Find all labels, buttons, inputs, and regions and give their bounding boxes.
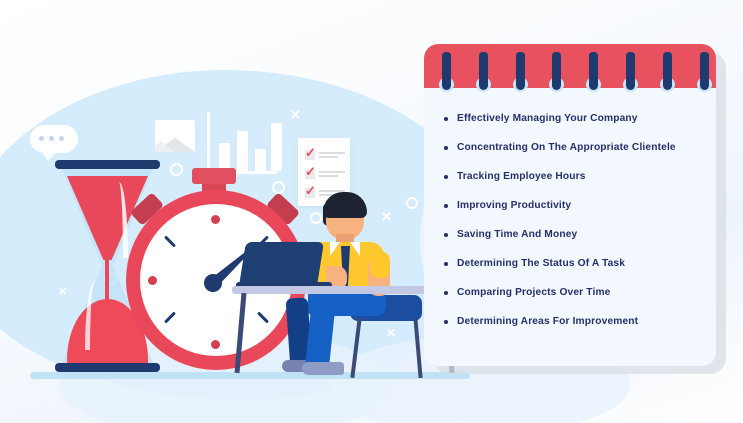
- benefit-list-item[interactable]: Saving Time And Money: [424, 220, 716, 249]
- stopwatch-hand-hub: [204, 274, 222, 292]
- bullet-point-icon: [444, 175, 448, 179]
- benefit-list-item-label: Saving Time And Money: [457, 220, 577, 249]
- notepad-panel: Effectively Managing Your CompanyConcent…: [424, 44, 716, 366]
- benefit-list-item[interactable]: Effectively Managing Your Company: [424, 104, 716, 133]
- spiral-ring: [589, 52, 598, 90]
- chair-leg: [413, 318, 422, 378]
- bullet-point-icon: [444, 320, 448, 324]
- spiral-ring-pin: [626, 52, 635, 90]
- bullet-point-icon: [444, 291, 448, 295]
- spiral-ring: [479, 52, 488, 90]
- checkbox-icon: ✓: [305, 150, 315, 160]
- hourglass-highlight-lower: [85, 280, 102, 350]
- spiral-ring: [442, 52, 451, 90]
- spiral-ring: [516, 52, 525, 90]
- envelope-icon: [155, 120, 195, 152]
- bullet-point-icon: [444, 262, 448, 266]
- bar-chart-bar: [219, 143, 230, 171]
- bullet-point-icon: [444, 233, 448, 237]
- bar-chart-y-axis: [207, 112, 210, 170]
- bar-chart-bar: [237, 131, 248, 171]
- spiral-ring: [626, 52, 635, 90]
- bullet-point-icon: [444, 117, 448, 121]
- benefit-list-item[interactable]: Improving Productivity: [424, 191, 716, 220]
- checklist-lines: [319, 152, 345, 158]
- benefits-list: Effectively Managing Your CompanyConcent…: [424, 88, 716, 336]
- stopwatch-marker-12: [211, 215, 220, 224]
- benefit-list-item[interactable]: Tracking Employee Hours: [424, 162, 716, 191]
- speech-bubble-dots: [39, 136, 64, 141]
- benefit-list-item-label: Improving Productivity: [457, 191, 571, 220]
- bar-chart-bar: [271, 123, 282, 171]
- stopwatch-knob: [192, 168, 236, 184]
- spiral-ring-pin: [479, 52, 488, 90]
- spiral-ring-pin: [589, 52, 598, 90]
- spiral-ring: [663, 52, 672, 90]
- stopwatch-marker-6: [211, 340, 220, 349]
- spiral-ring-pin: [700, 52, 709, 90]
- chair-leg: [350, 318, 361, 378]
- benefit-list-item-label: Effectively Managing Your Company: [457, 104, 638, 133]
- illustration-canvas: ✕✕✕✕✕ ✓ ✓ ✓: [0, 0, 743, 423]
- person-collar-right: [350, 242, 360, 256]
- spiral-ring-pin: [552, 52, 561, 90]
- spiral-ring: [552, 52, 561, 90]
- checklist-row: ✓: [305, 150, 345, 160]
- benefit-list-item-label: Comparing Projects Over Time: [457, 278, 610, 307]
- person-hair: [323, 192, 367, 218]
- person-leg-front: [305, 307, 335, 369]
- benefit-list-item-label: Concentrating On The Appropriate Cliente…: [457, 133, 676, 162]
- bullet-point-icon: [444, 204, 448, 208]
- benefit-list-item[interactable]: Concentrating On The Appropriate Cliente…: [424, 133, 716, 162]
- spiral-ring-pin: [442, 52, 451, 90]
- bar-chart-icon: [207, 112, 277, 174]
- checklist-lines: [319, 171, 345, 177]
- envelope-flap-secondary: [155, 141, 175, 152]
- benefit-list-item-label: Determining The Status Of A Task: [457, 249, 625, 278]
- check-icon: ✓: [305, 146, 316, 159]
- spiral-ring: [700, 52, 709, 90]
- benefit-list-item[interactable]: Determining The Status Of A Task: [424, 249, 716, 278]
- decorative-x-icon: ✕: [290, 108, 301, 121]
- benefit-list-item[interactable]: Determining Areas For Improvement: [424, 307, 716, 336]
- benefit-list-item[interactable]: Comparing Projects Over Time: [424, 278, 716, 307]
- bullet-point-icon: [444, 146, 448, 150]
- spiral-ring-pin: [516, 52, 525, 90]
- benefit-list-item-label: Tracking Employee Hours: [457, 162, 586, 191]
- stopwatch-marker-9: [148, 276, 157, 285]
- person-shoe-front: [302, 362, 344, 375]
- person-sleeve-right: [370, 252, 390, 278]
- speech-bubble-icon: [30, 125, 78, 153]
- person-collar-left: [330, 242, 340, 256]
- spiral-ring-pin: [663, 52, 672, 90]
- benefit-list-item-label: Determining Areas For Improvement: [457, 307, 638, 336]
